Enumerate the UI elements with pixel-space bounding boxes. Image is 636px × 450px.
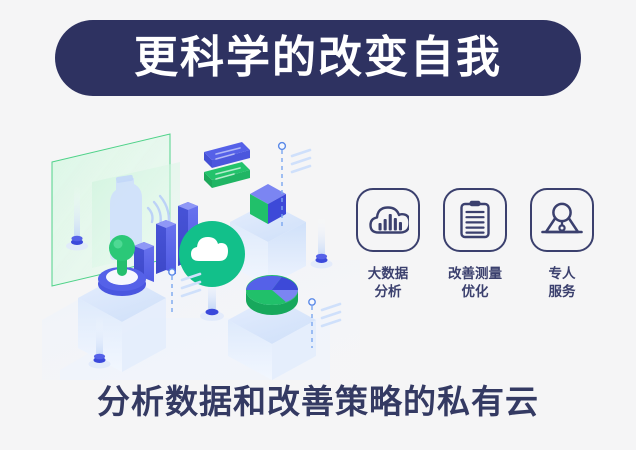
support-agent-icon [530, 188, 594, 252]
feature-label: 大数据 分析 [368, 265, 409, 301]
cloud-bar-chart-icon [356, 188, 420, 252]
feature-item-measurement[interactable]: 改善测量 优化 [439, 188, 511, 301]
pie-chart-3d [246, 275, 298, 315]
page-title: 更科学的改变自我 [134, 36, 502, 80]
feature-item-support[interactable]: 专人 服务 [526, 188, 598, 301]
poster-canvas: 更科学的改变自我 [0, 0, 636, 450]
feature-item-big-data[interactable]: 大数据 分析 [352, 188, 424, 301]
map-pin-marker [208, 330, 215, 360]
tagline: 分析数据和改善策略的私有云 [0, 382, 636, 422]
title-banner: 更科学的改变自我 [55, 20, 581, 96]
feature-label: 专人 服务 [549, 265, 576, 301]
clipboard-icon [443, 188, 507, 252]
hero-illustration [30, 120, 360, 380]
feature-list: 大数据 分析 改善测量 优化 [352, 188, 598, 336]
feature-label: 改善测量 优化 [448, 265, 502, 301]
